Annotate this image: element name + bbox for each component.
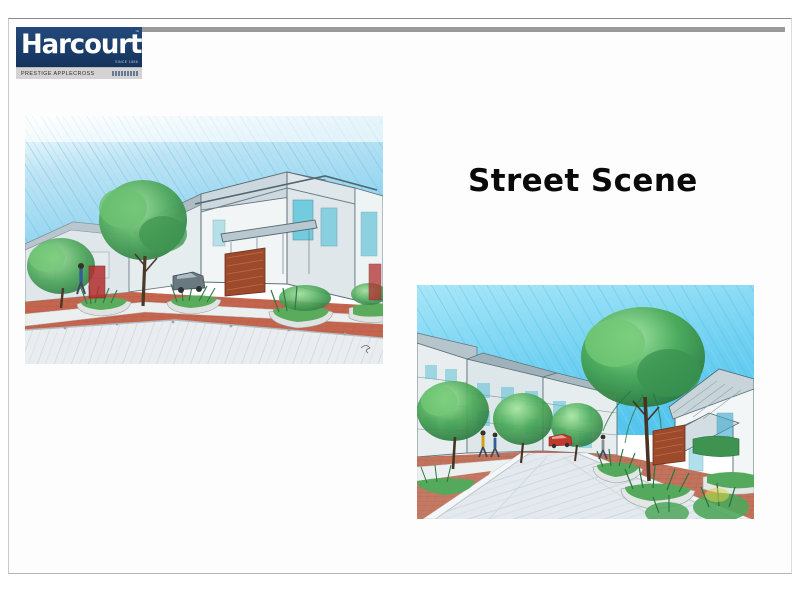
rendering-secondary-artwork [417,285,754,519]
header-rule [140,27,785,32]
logo-strip-mark-icon [112,71,138,76]
street-scene-rendering-primary [25,116,383,364]
logo-since-text: SINCE 1888 [115,60,138,65]
slide-canvas: Harcourts ™ SINCE 1888 PRESTIGE APPLECRO… [0,0,800,600]
logo-wordmark: Harcourts [21,28,132,62]
logo-office-strip: PRESTIGE APPLECROSS [16,67,142,79]
street-scene-rendering-secondary [417,285,754,519]
logo-office-label: PRESTIGE APPLECROSS [21,70,95,78]
harcourts-logo[interactable]: Harcourts ™ SINCE 1888 PRESTIGE APPLECRO… [16,27,142,79]
logo-badge: Harcourts ™ SINCE 1888 [16,27,142,67]
car [173,272,205,293]
trademark-icon: ™ [135,30,139,34]
rendering-primary-artwork [25,116,383,364]
timber-screen [225,248,265,296]
page-title: Street Scene [468,162,768,200]
timber-screen [653,425,685,465]
